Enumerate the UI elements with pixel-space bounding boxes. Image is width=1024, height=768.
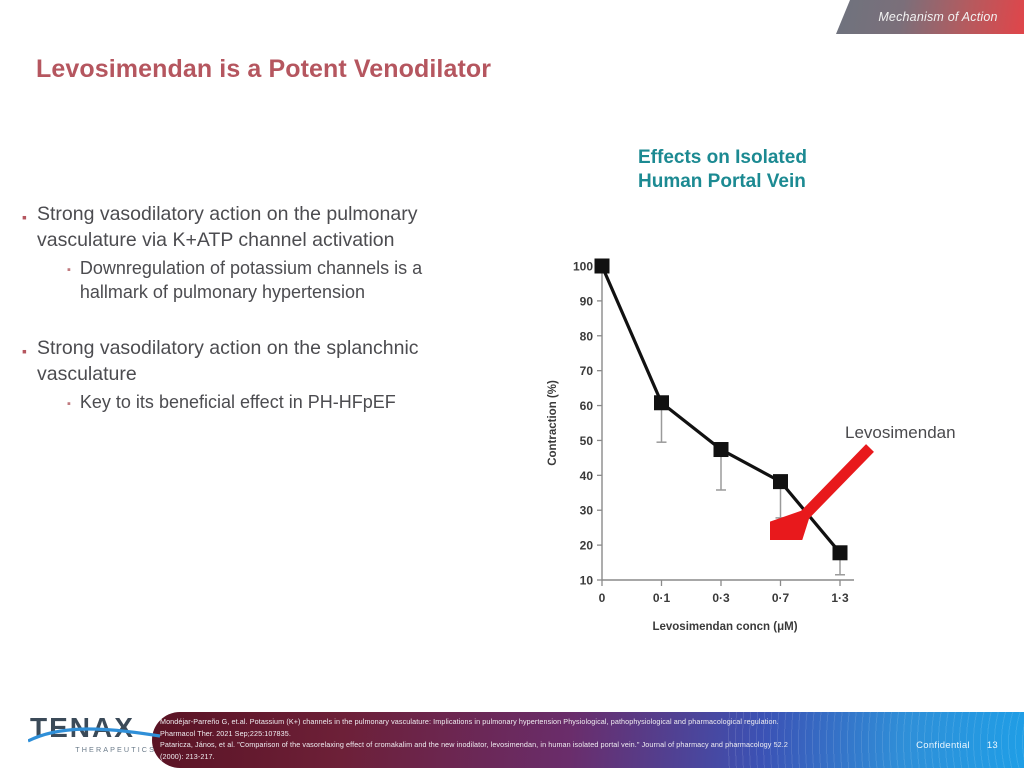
svg-text:30: 30: [580, 504, 594, 518]
citation-line: (2000): 213-217.: [160, 751, 860, 763]
list-item: ▪ Strong vasodilatory action on the pulm…: [22, 202, 492, 254]
reference-citations: Mondéjar-Parreño G, et.al. Potassium (K+…: [160, 716, 860, 763]
svg-text:40: 40: [580, 469, 594, 483]
confidential-marker: Confidential 13: [916, 740, 998, 751]
tenax-logo: TENAX THERAPEUTICS: [30, 708, 158, 760]
svg-text:80: 80: [580, 329, 594, 343]
slide-footer: Mondéjar-Parreño G, et.al. Potassium (K+…: [0, 706, 1024, 768]
page-title: Levosimendan is a Potent Venodilator: [36, 55, 491, 84]
list-item-label: Strong vasodilatory action on the pulmon…: [37, 202, 492, 254]
bullet-list: ▪ Strong vasodilatory action on the pulm…: [22, 200, 492, 417]
bullet-marker-icon: ▪: [67, 399, 71, 410]
page-number: 13: [987, 740, 998, 751]
list-item: ▪ Key to its beneficial effect in PH-HFp…: [67, 390, 492, 414]
chart-heading: Effects on Isolated Human Portal Vein: [638, 146, 888, 195]
chart-heading-line-2: Human Portal Vein: [638, 170, 888, 194]
logo-wordmark: TENAX: [30, 714, 158, 742]
list-item-label: Downregulation of potassium channels is …: [80, 256, 492, 305]
levosimendan-arrow-icon: [770, 440, 880, 540]
banner-label: Mechanism of Action: [862, 10, 997, 24]
bullet-marker-icon: ▪: [67, 265, 71, 276]
mechanism-of-action-banner: Mechanism of Action: [836, 0, 1024, 34]
svg-text:70: 70: [580, 364, 594, 378]
svg-text:100: 100: [573, 260, 593, 274]
chart-heading-line-1: Effects on Isolated: [638, 146, 888, 170]
bullet-spacer: [22, 306, 492, 334]
svg-text:0: 0: [599, 591, 606, 605]
banner-shape: Mechanism of Action: [836, 0, 1024, 34]
svg-text:1·3: 1·3: [831, 591, 849, 605]
citation-line: Pataricza, János, et al. "Comparison of …: [160, 739, 860, 751]
bullet-marker-icon: ▪: [22, 210, 27, 224]
svg-text:0·7: 0·7: [772, 591, 790, 605]
svg-text:20: 20: [580, 539, 594, 553]
svg-text:Contraction (%): Contraction (%): [547, 380, 559, 466]
bullet-marker-icon: ▪: [22, 344, 27, 358]
list-item-label: Key to its beneficial effect in PH-HFpEF: [80, 390, 396, 414]
svg-text:10: 10: [580, 574, 594, 588]
list-item: ▪ Strong vasodilatory action on the spla…: [22, 336, 492, 388]
logo-subtitle: THERAPEUTICS: [30, 745, 158, 754]
svg-text:50: 50: [580, 434, 594, 448]
citation-line: Mondéjar-Parreño G, et.al. Potassium (K+…: [160, 716, 860, 728]
confidential-label: Confidential: [916, 740, 970, 751]
list-item: ▪ Downregulation of potassium channels i…: [67, 256, 492, 305]
svg-text:60: 60: [580, 399, 594, 413]
svg-text:0·1: 0·1: [653, 591, 671, 605]
svg-text:0·3: 0·3: [712, 591, 730, 605]
list-item-label: Strong vasodilatory action on the splanc…: [37, 336, 492, 388]
citation-line: Pharmacol Ther. 2021 Sep;225:107835.: [160, 728, 860, 740]
svg-text:Levosimendan concn (μM): Levosimendan concn (μM): [652, 621, 797, 633]
footer-gradient-bar: Mondéjar-Parreño G, et.al. Potassium (K+…: [152, 712, 1024, 768]
svg-text:90: 90: [580, 294, 594, 308]
